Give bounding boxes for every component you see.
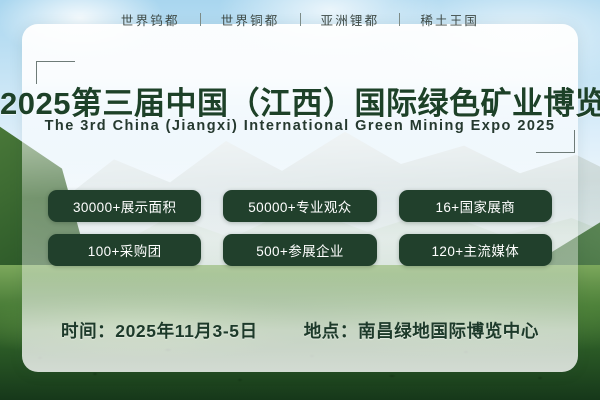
slogan-item-tungsten: 世界钨都 [101,10,200,29]
stat-pill-group: 30000+展示面积 50000+专业观众 16+国家展商 100+采购团 50… [48,190,552,266]
page-subtitle: The 3rd China (Jiangxi) International Gr… [0,118,600,134]
stat-pill-exhibiting-companies: 500+参展企业 [223,234,376,266]
slogan-item-lithium: 亚洲锂都 [301,10,400,29]
page-title: 2025第三届中国（江西）国际绿色矿业博览会 [0,78,600,123]
stat-pill-exhibition-area: 30000+展示面积 [48,190,201,222]
stat-pill-purchasing-groups: 100+采购团 [48,234,201,266]
expo-banner: 世界钨都 世界铜都 亚洲锂都 稀土王国 2025第三届中国（江西）国际绿色矿业博… [0,0,600,400]
slogan-item-copper: 世界铜都 [201,10,300,29]
slogan-item-rare-earth: 稀土王国 [400,10,499,29]
event-info-bar: 时间：2025年11月3-5日 地点：南昌绿地国际博览中心 [0,318,600,343]
event-venue: 地点：南昌绿地国际博览中心 [304,318,539,343]
stat-pill-professional-visitors: 50000+专业观众 [223,190,376,222]
stat-pill-country-exhibitors: 16+国家展商 [399,190,552,222]
stat-pill-media-outlets: 120+主流媒体 [399,234,552,266]
event-date: 时间：2025年11月3-5日 [61,318,258,343]
slogan-strip: 世界钨都 世界铜都 亚洲锂都 稀土王国 [0,6,600,32]
